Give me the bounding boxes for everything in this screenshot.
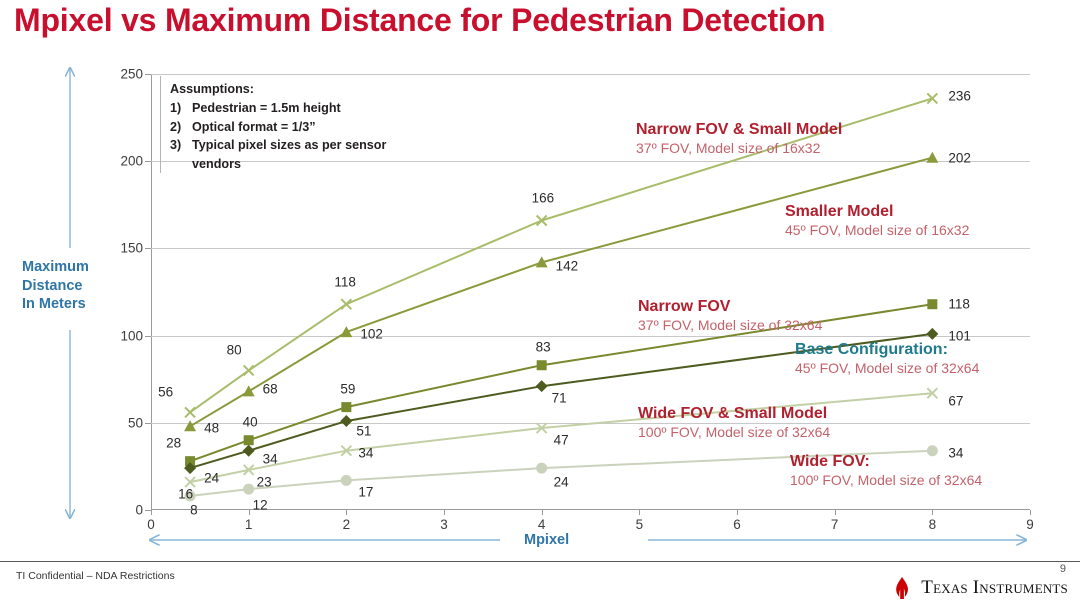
y-axis-tick-label: 0 xyxy=(135,503,143,518)
data-point-label: 47 xyxy=(554,433,569,448)
data-point-label: 34 xyxy=(358,445,373,460)
x-axis-tick-label: 9 xyxy=(1026,517,1034,532)
assumption-item: 1) Pedestrian = 1.5m height xyxy=(170,99,388,117)
data-point-marker xyxy=(536,463,547,474)
callout-subtext: 45º FOV, Model size of 16x32 xyxy=(785,222,969,239)
callout-subtext: 37º FOV, Model size of 16x32 xyxy=(636,140,842,157)
x-axis-tick-label: 5 xyxy=(636,517,644,532)
data-point-marker xyxy=(927,93,937,103)
data-point-label: 142 xyxy=(556,259,579,274)
data-point-marker xyxy=(243,445,255,457)
data-point-marker xyxy=(537,215,547,225)
data-point-label: 48 xyxy=(204,421,219,436)
ti-logo: Texas Instruments xyxy=(890,576,1068,600)
data-point-marker xyxy=(184,420,196,431)
y-axis-title-line-3: In Meters xyxy=(22,295,89,314)
data-point-label: 118 xyxy=(334,275,356,290)
x-axis-tick-label: 0 xyxy=(147,517,155,532)
x-axis-tick-mark xyxy=(151,510,152,515)
callout-heading: Wide FOV & Small Model xyxy=(638,405,830,424)
assumption-text: Typical pixel sizes as per sensor vendor… xyxy=(192,136,388,173)
x-axis-tick-mark xyxy=(444,510,445,515)
data-point-label: 8 xyxy=(190,503,198,518)
assumption-item: 3) Typical pixel sizes as per sensor ven… xyxy=(170,136,388,173)
data-point-label: 34 xyxy=(263,451,278,466)
footer-confidentiality-note: TI Confidential – NDA Restrictions xyxy=(16,570,175,582)
x-axis-tick-label: 2 xyxy=(343,517,351,532)
callout-subtext: 100º FOV, Model size of 32x64 xyxy=(638,424,830,441)
page-number: 9 xyxy=(1060,563,1066,575)
assumption-item: 2) Optical format = 1/3” xyxy=(170,118,388,136)
x-axis-tick-mark xyxy=(542,510,543,515)
y-axis-tick-label: 100 xyxy=(120,328,143,343)
x-axis-tick-label: 6 xyxy=(733,517,741,532)
callout-wide-fov-small-model: Wide FOV & Small Model 100º FOV, Model s… xyxy=(638,405,830,441)
x-axis-tick-mark xyxy=(639,510,640,515)
data-point-label: 236 xyxy=(948,89,971,104)
x-axis-tick-label: 4 xyxy=(538,517,546,532)
callout-heading: Base Configuration: xyxy=(795,341,979,360)
data-point-label: 51 xyxy=(356,424,371,439)
data-point-label: 28 xyxy=(166,436,181,451)
data-point-marker xyxy=(340,415,352,427)
y-axis-tick-label: 200 xyxy=(120,154,143,169)
data-point-label: 12 xyxy=(253,498,268,513)
callout-subtext: 45º FOV, Model size of 32x64 xyxy=(795,360,979,377)
x-axis-tick-mark xyxy=(346,510,347,515)
data-point-label: 23 xyxy=(257,474,272,489)
data-point-label: 16 xyxy=(178,487,193,502)
data-point-label: 56 xyxy=(158,385,173,400)
x-axis-tick-mark xyxy=(1030,510,1031,515)
data-point-marker xyxy=(341,402,351,412)
slide: Mpixel vs Maximum Distance for Pedestria… xyxy=(0,0,1080,609)
assumption-number: 1) xyxy=(170,99,192,117)
data-point-label: 24 xyxy=(204,471,219,486)
page-title: Mpixel vs Maximum Distance for Pedestria… xyxy=(14,2,825,39)
footer-divider xyxy=(0,561,1080,562)
assumptions-box: Assumptions: 1) Pedestrian = 1.5m height… xyxy=(160,76,388,173)
data-point-marker xyxy=(927,299,937,309)
ti-logo-mark-icon xyxy=(890,576,914,600)
data-point-label: 166 xyxy=(532,191,555,206)
data-point-marker xyxy=(926,328,938,340)
assumption-number: 3) xyxy=(170,136,192,173)
series-2 xyxy=(184,152,938,432)
y-axis-tick-label: 150 xyxy=(120,241,143,256)
y-axis-tick-label: 50 xyxy=(128,415,143,430)
callout-heading: Smaller Model xyxy=(785,203,969,222)
data-point-marker xyxy=(341,475,352,486)
callout-narrow-fov: Narrow FOV 37º FOV, Model size of 32x64 xyxy=(638,298,822,334)
ti-logo-wordmark: Texas Instruments xyxy=(921,577,1068,599)
data-point-label: 40 xyxy=(243,415,258,430)
data-point-marker xyxy=(244,435,254,445)
x-axis-tick-mark xyxy=(737,510,738,515)
callout-smaller-model: Smaller Model 45º FOV, Model size of 16x… xyxy=(785,203,969,239)
data-point-label: 68 xyxy=(263,382,278,397)
assumption-number: 2) xyxy=(170,118,192,136)
data-point-marker xyxy=(185,407,195,417)
data-point-label: 80 xyxy=(227,343,242,358)
callout-base-configuration: Base Configuration: 45º FOV, Model size … xyxy=(795,341,979,377)
data-point-marker xyxy=(243,385,255,396)
data-point-label: 118 xyxy=(948,297,970,312)
x-axis-tick-label: 8 xyxy=(929,517,937,532)
data-point-label: 67 xyxy=(948,394,963,409)
data-point-label: 202 xyxy=(948,150,971,165)
y-axis-tick-label: 250 xyxy=(120,67,143,82)
assumptions-heading: Assumptions: xyxy=(170,80,388,98)
callout-heading: Narrow FOV xyxy=(638,298,822,317)
callout-heading: Narrow FOV & Small Model xyxy=(636,121,842,140)
y-axis-title: Maximum Distance In Meters xyxy=(22,258,89,314)
x-axis-tick-label: 3 xyxy=(440,517,448,532)
x-axis-tick-mark xyxy=(249,510,250,515)
data-point-marker xyxy=(926,152,938,163)
data-point-label: 17 xyxy=(358,485,373,500)
data-point-label: 83 xyxy=(536,340,551,355)
callout-subtext: 37º FOV, Model size of 32x64 xyxy=(638,317,822,334)
data-point-label: 102 xyxy=(360,327,383,342)
x-axis-tick-mark xyxy=(932,510,933,515)
data-point-marker xyxy=(243,484,254,495)
x-axis-title: Mpixel xyxy=(524,532,569,548)
data-point-label: 59 xyxy=(340,382,355,397)
x-axis-tick-mark xyxy=(835,510,836,515)
data-point-marker xyxy=(536,380,548,392)
callout-subtext: 100º FOV, Model size of 32x64 xyxy=(790,472,982,489)
y-axis-title-line-1: Maximum xyxy=(22,258,89,277)
x-axis-tick-label: 7 xyxy=(831,517,839,532)
data-point-label: 71 xyxy=(552,391,567,406)
callout-narrow-fov-small-model: Narrow FOV & Small Model 37º FOV, Model … xyxy=(636,121,842,157)
data-point-marker xyxy=(341,299,351,309)
callout-wide-fov: Wide FOV: 100º FOV, Model size of 32x64 xyxy=(790,453,982,489)
assumption-text: Optical format = 1/3” xyxy=(192,118,388,136)
x-axis-tick-label: 1 xyxy=(245,517,253,532)
data-point-marker xyxy=(244,365,254,375)
data-point-marker xyxy=(537,360,547,370)
y-axis-title-line-2: Distance xyxy=(22,277,89,296)
callout-heading: Wide FOV: xyxy=(790,453,982,472)
data-point-label: 24 xyxy=(554,475,569,490)
assumption-text: Pedestrian = 1.5m height xyxy=(192,99,388,117)
